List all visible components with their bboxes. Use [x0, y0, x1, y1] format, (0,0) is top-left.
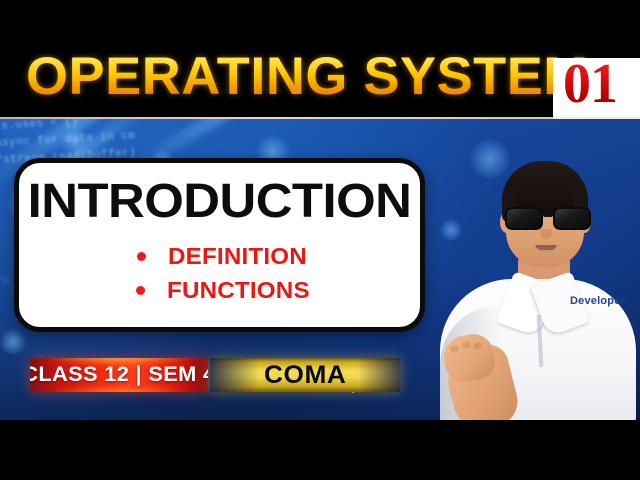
shirt-logo-text: Developer [570, 295, 625, 308]
bullet-dot-icon [136, 286, 145, 295]
knuckle [461, 341, 471, 349]
episode-number: 01 [563, 53, 617, 115]
knuckle [450, 345, 460, 353]
list-item: DEFINITION [19, 239, 420, 273]
course-title: OPERATING SYSTEM [26, 49, 589, 105]
class-badge-label: CLASS 12 | SEM 4 [30, 364, 208, 386]
list-item: FUNCTIONS [19, 273, 420, 307]
bullet-label: FUNCTIONS [167, 277, 310, 303]
badge-glow-bottom [48, 386, 190, 392]
topic-badge-label: COMA [264, 362, 346, 388]
knuckle [472, 342, 482, 350]
episode-number-box: 01 [553, 58, 640, 119]
bullet-label: DEFINITION [168, 243, 309, 269]
video-thumbnail: OPERATING SYSTEM 01 's.uses < {} async f… [0, 0, 640, 480]
bokeh-dot [60, 127, 90, 157]
topic-card: INTRODUCTION DEFINITION FUNCTIONS [14, 158, 425, 332]
sunglasses-bridge [543, 213, 553, 217]
bokeh-dot [0, 329, 26, 355]
bullet-dot-icon [137, 252, 146, 261]
presenter-mouth [535, 245, 557, 252]
presenter-photo: Developer [432, 119, 640, 420]
topic-badge: COMA [210, 358, 400, 392]
topic-bullet-list: DEFINITION FUNCTIONS [19, 239, 420, 307]
sunglasses-lens-right [553, 207, 591, 230]
sunglasses-lens-left [505, 207, 543, 230]
title-band: OPERATING SYSTEM 01 [0, 0, 640, 119]
sunglasses-icon [502, 207, 594, 231]
letterbox-bottom [0, 420, 640, 480]
class-badge: CLASS 12 | SEM 4 [30, 358, 208, 392]
topic-heading: INTRODUCTION [14, 173, 425, 231]
